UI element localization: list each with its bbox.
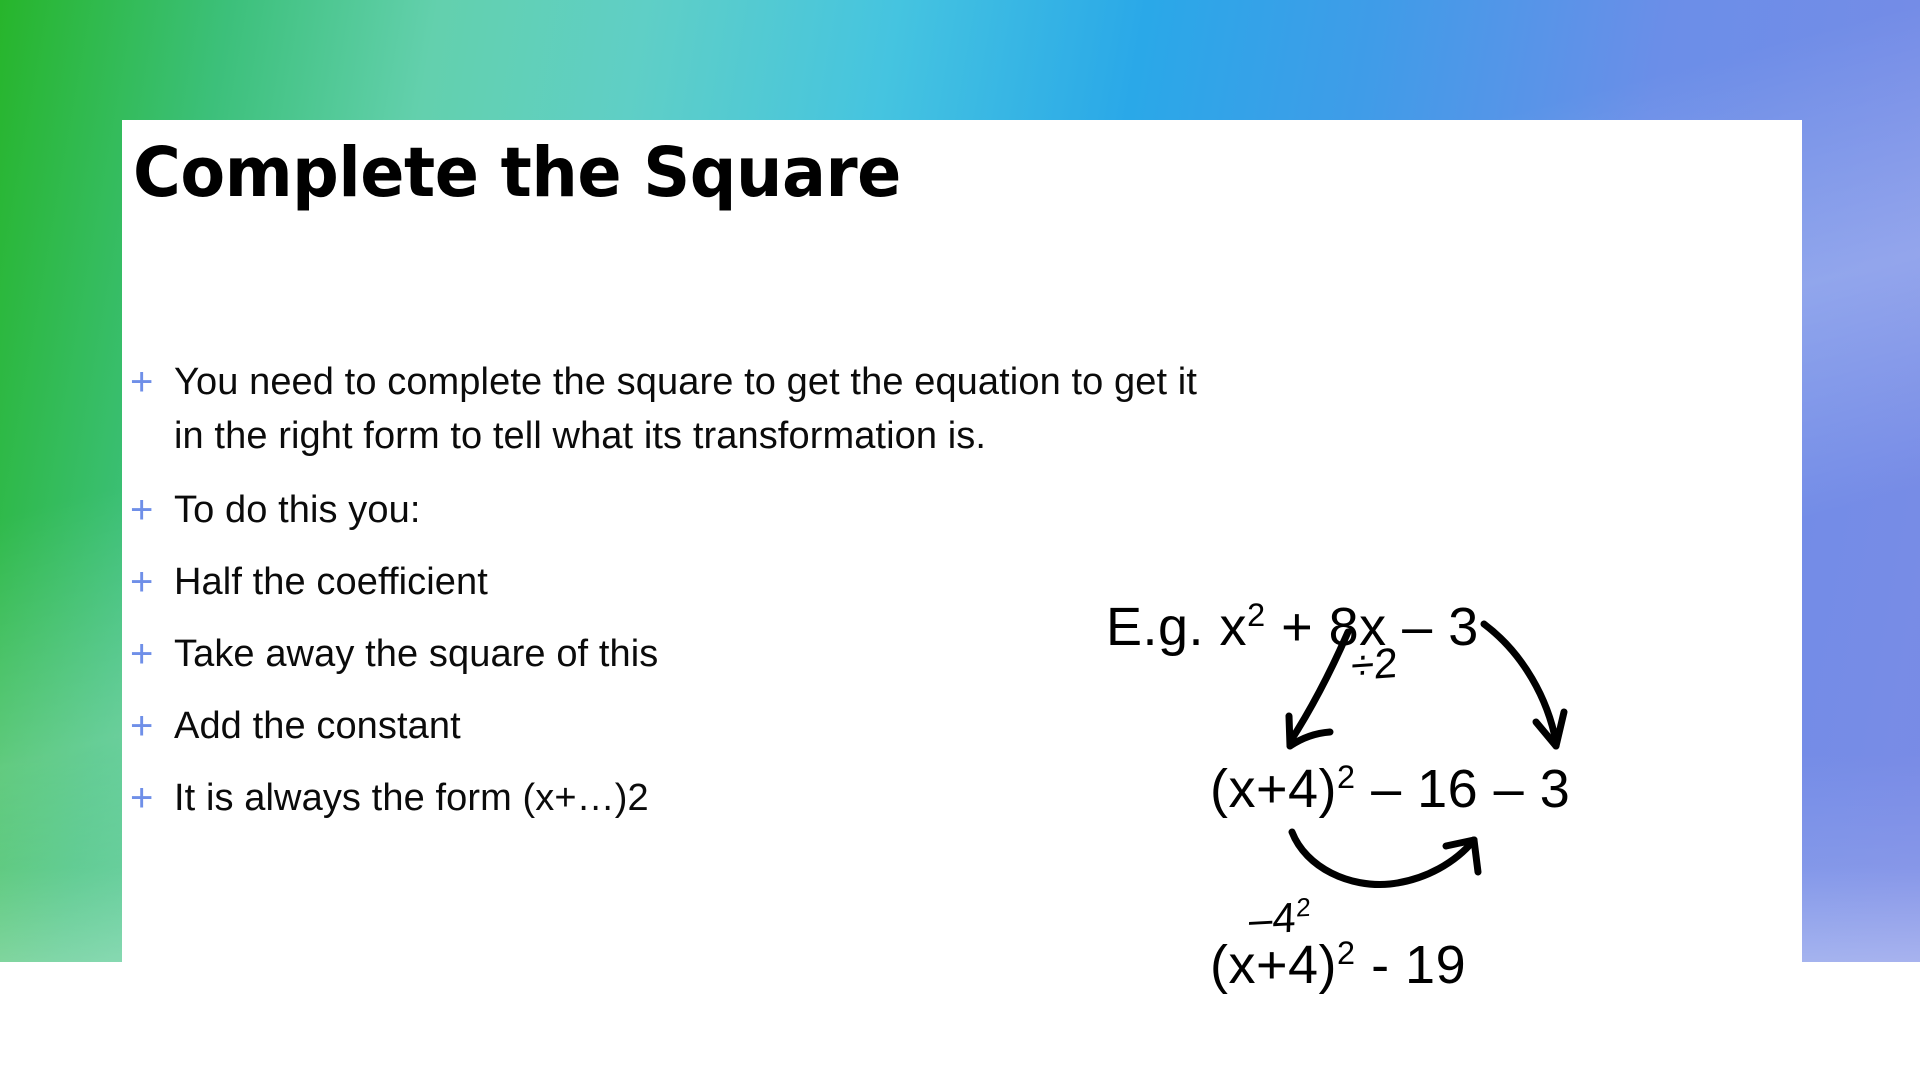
- list-item-label: You need to complete the square to get t…: [174, 355, 1558, 463]
- equation-line-2-suffix: – 16 – 3: [1356, 759, 1571, 819]
- plus-bullet-icon: +: [128, 555, 174, 609]
- equation-line-final: (x+4)2 - 19: [1210, 934, 1466, 996]
- plus-bullet-icon: +: [128, 355, 174, 409]
- list-item-line2: in the right form to tell what its trans…: [174, 409, 1558, 463]
- equation-line-2-exponent: 2: [1337, 759, 1356, 795]
- equation-line-expanded: (x+4)2 – 16 – 3: [1210, 758, 1570, 820]
- equation-line-2-prefix: (x+4): [1210, 759, 1337, 819]
- list-item-line1: You need to complete the square to get t…: [174, 361, 1197, 403]
- page-title: Complete the Square: [133, 133, 901, 213]
- list-item[interactable]: + To do this you:: [128, 483, 1558, 537]
- plus-bullet-icon: +: [128, 771, 174, 825]
- equation-line-3-prefix: (x+4): [1210, 935, 1337, 995]
- plus-bullet-icon: +: [128, 627, 174, 681]
- equation-line-1-suffix: + 8x – 3: [1266, 597, 1479, 657]
- equation-line-3-exponent: 2: [1337, 935, 1356, 971]
- plus-bullet-icon: +: [128, 699, 174, 753]
- equation-line-3-suffix: - 19: [1356, 935, 1467, 995]
- equation-line-1-exponent: 2: [1247, 597, 1266, 633]
- list-item[interactable]: + You need to complete the square to get…: [128, 355, 1558, 463]
- equation-line-1-prefix: E.g. x: [1106, 597, 1247, 657]
- plus-bullet-icon: +: [128, 483, 174, 537]
- list-item-label: To do this you:: [174, 483, 1558, 537]
- worked-example: E.g. x2 + 8x – 3 (x+4)2 – 16 – 3 (x+4)2 …: [1090, 596, 1730, 1056]
- equation-line-original: E.g. x2 + 8x – 3: [1106, 596, 1479, 658]
- slide-canvas: Complete the Square + You need to comple…: [0, 0, 1920, 1080]
